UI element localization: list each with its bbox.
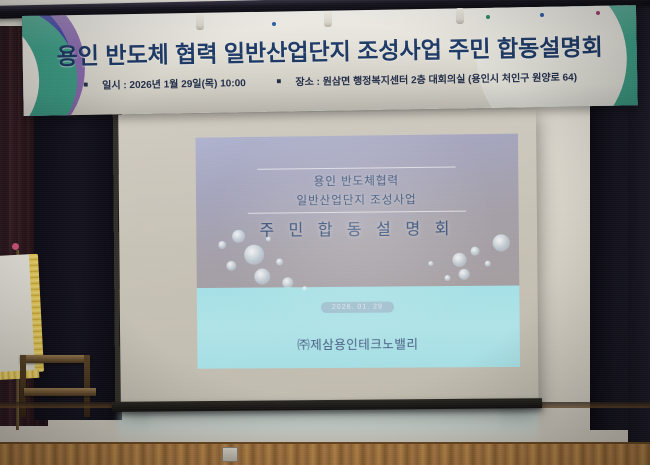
bullet-square-icon-2: ■ <box>276 76 281 85</box>
flag-pole-finial <box>12 243 19 250</box>
rail-marker-blue <box>272 22 276 26</box>
projected-slide: 용인 반도체협력 일반산업단지 조성사업 주 민 합 동 설 명 회 2026.… <box>196 134 520 369</box>
rail-marker-green <box>486 15 490 19</box>
step-upper <box>20 355 90 363</box>
slide-bubble <box>218 241 226 249</box>
slide-bubble <box>445 275 451 281</box>
slide-bubble <box>244 245 264 265</box>
banner-clip-3 <box>456 8 464 24</box>
stage-front-edge <box>0 442 650 465</box>
slide-title-line-3: 주 민 합 동 설 명 회 <box>196 214 519 241</box>
rail-marker-pink <box>596 11 600 15</box>
rail-marker-blue-2 <box>540 13 544 17</box>
banner-clip-1 <box>196 14 204 30</box>
slide-bubble <box>226 261 236 271</box>
banner-clip-2 <box>324 11 332 27</box>
slide-bubble <box>452 253 466 267</box>
slide-bubble <box>302 286 307 291</box>
slide-bubble <box>276 258 283 265</box>
slide-bubble <box>470 247 479 256</box>
slide-bubble <box>254 268 270 284</box>
bullet-square-icon: ■ <box>83 80 88 89</box>
slide-company-name: ㈜제삼용인테크노밸리 <box>197 333 520 354</box>
floor-outlet <box>222 447 238 462</box>
slide-date-badge: 2026. 01. 29 <box>321 302 394 314</box>
slide-lower-band <box>197 285 520 368</box>
slide-title-line-2: 일반산업단지 조성사업 <box>196 190 519 209</box>
slide-bubble <box>485 261 491 267</box>
slide-bubble <box>428 261 433 266</box>
slide-bubble <box>282 277 293 288</box>
step-lower <box>24 388 96 396</box>
photo-scene: 용인 반도체 협력 일반산업단지 조성사업 주민 합동설명회 ■일시 : 202… <box>0 0 650 465</box>
projection-screen: 용인 반도체협력 일반산업단지 조성사업 주 민 합 동 설 명 회 2026.… <box>118 109 538 409</box>
slide-bubble <box>459 269 470 280</box>
